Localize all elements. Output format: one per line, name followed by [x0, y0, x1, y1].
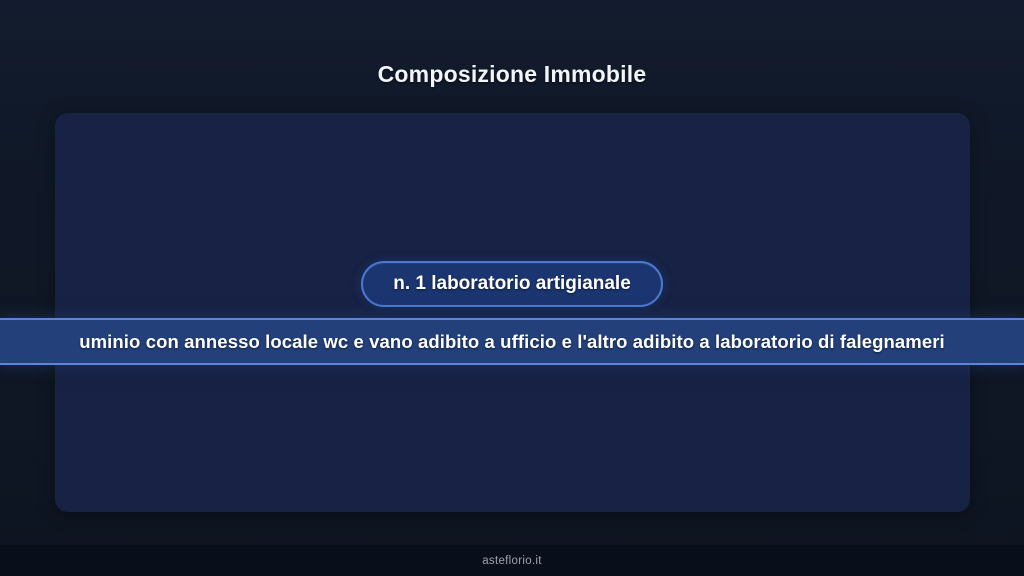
- slide-stage: Composizione Immobile n. 1 laboratorio a…: [0, 0, 1024, 576]
- description-banner: uminio con annesso locale wc e vano adib…: [0, 318, 1024, 365]
- page-title: Composizione Immobile: [0, 58, 1024, 90]
- description-banner-text: uminio con annesso locale wc e vano adib…: [79, 330, 945, 354]
- footer-bar: asteflorio.it: [0, 545, 1024, 576]
- pill-container: n. 1 laboratorio artigianale: [0, 261, 1024, 307]
- content-card: [55, 113, 970, 512]
- property-unit-pill[interactable]: n. 1 laboratorio artigianale: [361, 261, 663, 307]
- footer-site-label: asteflorio.it: [482, 554, 542, 568]
